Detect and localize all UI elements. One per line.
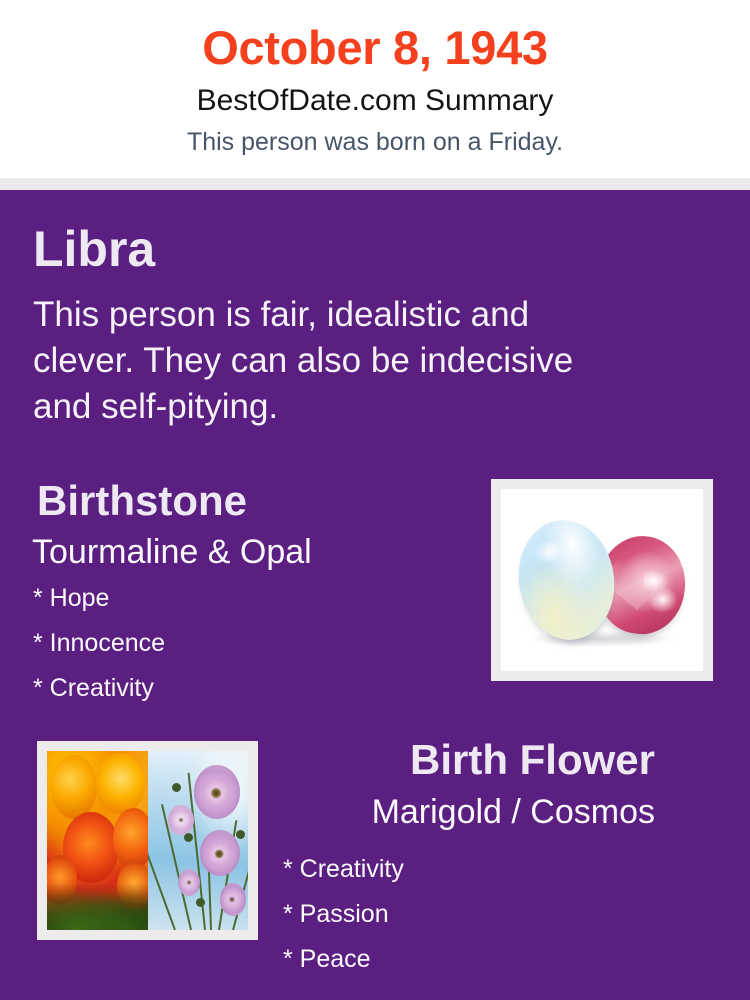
cosmos-bloom-icon bbox=[178, 869, 200, 896]
site-summary-subtitle: BestOfDate.com Summary bbox=[0, 86, 750, 116]
weekday-note: This person was born on a Friday. bbox=[0, 130, 750, 155]
birthstone-trait-list: * Hope * Innocence * Creativity bbox=[33, 586, 453, 721]
zodiac-sign-name: Libra bbox=[33, 222, 155, 277]
birth-flower-name: Marigold / Cosmos bbox=[372, 795, 655, 829]
cosmos-bloom-icon bbox=[168, 805, 194, 835]
birthstone-heading: Birthstone bbox=[37, 480, 247, 522]
list-item: * Creativity bbox=[283, 857, 683, 882]
date-summary-card: October 8, 1943 BestOfDate.com Summary T… bbox=[0, 0, 750, 1000]
list-item: * Passion bbox=[283, 902, 683, 927]
page-title: October 8, 1943 bbox=[0, 24, 750, 71]
zodiac-description: This person is fair, idealistic and clev… bbox=[33, 292, 603, 430]
birth-flower-photo-frame bbox=[37, 741, 258, 940]
list-item: * Innocence bbox=[33, 631, 453, 656]
birth-flower-photo bbox=[47, 751, 248, 930]
birth-flower-trait-list: * Creativity * Passion * Peace bbox=[283, 857, 683, 992]
list-item: * Peace bbox=[283, 947, 683, 972]
flower-stem bbox=[148, 842, 176, 930]
list-item: * Creativity bbox=[33, 676, 453, 701]
header-divider bbox=[0, 178, 750, 190]
flower-bud bbox=[236, 830, 245, 839]
opal-gem-icon bbox=[510, 513, 623, 646]
cosmos-photo-half bbox=[148, 751, 249, 930]
marigold-photo-half bbox=[47, 751, 148, 930]
birthstone-name: Tourmaline & Opal bbox=[32, 535, 312, 569]
cosmos-bloom-icon bbox=[194, 765, 240, 819]
list-item: * Hope bbox=[33, 586, 453, 611]
birth-flower-heading: Birth Flower bbox=[410, 739, 655, 781]
marigold-bloom-icon bbox=[95, 753, 145, 814]
header: October 8, 1943 BestOfDate.com Summary T… bbox=[0, 0, 750, 178]
cosmos-bloom-icon bbox=[200, 830, 240, 877]
birthstone-photo bbox=[501, 489, 703, 671]
birthstone-photo-frame bbox=[491, 479, 713, 681]
flower-bud bbox=[172, 783, 181, 792]
flower-bud bbox=[196, 898, 205, 907]
foliage bbox=[47, 883, 148, 930]
flower-bud bbox=[184, 833, 193, 842]
cosmos-bloom-icon bbox=[220, 883, 246, 915]
marigold-bloom-icon bbox=[51, 755, 97, 819]
flower-stem bbox=[208, 869, 212, 930]
marigold-bloom-icon bbox=[113, 808, 147, 869]
